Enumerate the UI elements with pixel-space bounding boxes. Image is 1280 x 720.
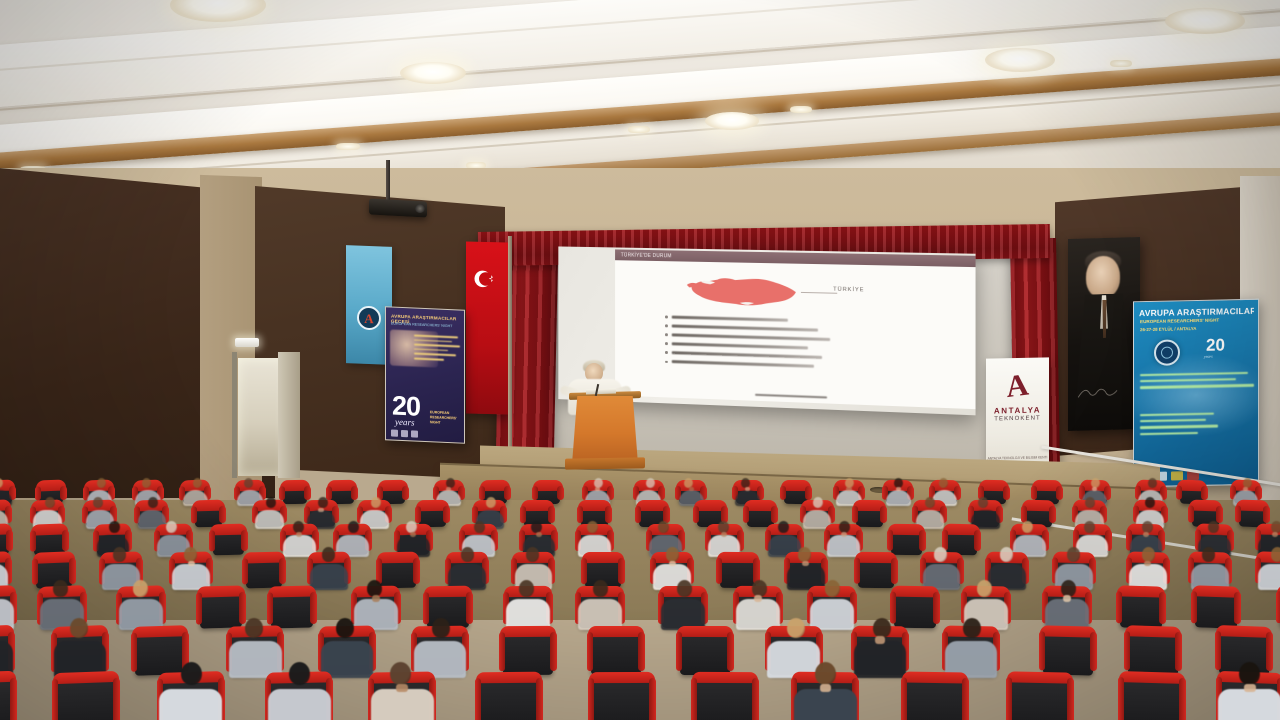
turkish-flag (466, 241, 508, 414)
audience-member-head (519, 580, 534, 597)
auditorium-seat[interactable] (380, 556, 416, 589)
bullet-text-line (671, 316, 787, 322)
audience-member-head (1061, 580, 1076, 597)
poster-text-line (1140, 413, 1214, 417)
audience-member-head (1202, 547, 1215, 562)
seat-armrest (962, 678, 969, 720)
downlight-icon (790, 106, 812, 113)
audience-member-torso (794, 689, 857, 720)
poster-date: 26-27-28 EYLÜL / ANTALYA (1140, 325, 1254, 332)
audience-member-head (113, 547, 126, 562)
turkey-map-icon (682, 269, 802, 314)
audience-member-head (184, 547, 197, 562)
audience-member-head (70, 618, 88, 638)
seat-armrest (933, 592, 940, 624)
audience-member-head (1067, 547, 1080, 562)
auditorium-seat[interactable] (56, 675, 116, 720)
audience-member-neck (536, 532, 542, 537)
bullet-marker-icon (665, 360, 667, 363)
seat-armrest (1234, 592, 1241, 624)
audience-member-head (934, 547, 947, 562)
audience-member-head (1239, 662, 1260, 686)
audience-member-head (658, 521, 669, 533)
auditorium-seat[interactable] (135, 629, 185, 676)
poster-text-line (414, 344, 460, 348)
seat-armrest (1216, 506, 1223, 523)
audience-member-neck (1063, 595, 1071, 601)
seat-armrest (974, 530, 981, 551)
seat-armrest (1159, 592, 1166, 624)
audience-member-torso (310, 564, 348, 590)
bullet-text-line (671, 325, 817, 332)
auditorium-seat[interactable] (1128, 629, 1178, 675)
audience-member-head (336, 618, 354, 638)
audience-member-head (1084, 521, 1095, 533)
downlight-icon (336, 143, 360, 150)
slide-footer-line (755, 393, 827, 398)
podium (572, 396, 638, 464)
poster-years-label: years (1204, 354, 1213, 359)
teknokent-name: ANTALYA (986, 405, 1049, 415)
audience-member-neck (318, 508, 324, 512)
audience-member-head (289, 662, 310, 686)
a-monogram-icon: A (357, 306, 381, 331)
seat-armrest (727, 632, 734, 671)
auditorium-seat[interactable] (894, 590, 936, 629)
audience-member-neck (372, 595, 380, 601)
auditorium-seat[interactable] (271, 590, 313, 629)
audience-member-head (432, 618, 450, 638)
poster-text-lines-secondary (1140, 413, 1218, 439)
audience-member-torso (159, 689, 222, 720)
seat-armrest (239, 592, 246, 624)
audience-member-head (925, 497, 935, 508)
audience-member-torso (255, 510, 283, 529)
map-label: TÜRKİYE (833, 287, 864, 294)
bullet-text-line (671, 361, 813, 368)
poster-text-line (414, 348, 448, 351)
seat-armrest (771, 506, 778, 523)
audience-member-head (1142, 547, 1155, 562)
seat-armrest (1266, 632, 1273, 671)
seat-armrest (241, 530, 248, 551)
seat-armrest (279, 558, 286, 584)
poster-years-number: 20 (392, 396, 420, 419)
seat-armrest (1003, 486, 1010, 500)
presentation-slide: TÜRKİYE'DE DURUM TÜRKİYE (615, 249, 975, 409)
auditorium-seat[interactable] (503, 630, 553, 675)
audience-member-head (873, 618, 891, 638)
audience-member-torso (886, 490, 911, 506)
audience-seating (0, 470, 1280, 720)
audience-member-head (461, 547, 474, 562)
audience-member-head (166, 521, 177, 533)
seat-armrest (219, 506, 226, 523)
seat-armrest (69, 558, 76, 584)
audience-member-head (97, 478, 106, 488)
audience-member-head (148, 497, 158, 508)
audience-member-head (293, 521, 304, 533)
seat-armrest (351, 486, 358, 500)
auditorium-seat[interactable] (1010, 675, 1070, 720)
auditorium-seat[interactable] (856, 504, 883, 527)
audience-member-neck (396, 684, 408, 693)
audience-member-neck (296, 532, 302, 537)
seat-armrest (805, 486, 812, 500)
seat-armrest (1049, 506, 1056, 523)
ataturk-portrait-banner (1068, 237, 1140, 431)
audience-member-head (778, 521, 789, 533)
audience-member-neck (1243, 487, 1248, 491)
auditorium-seat[interactable] (680, 630, 730, 675)
slide-bullet-list (665, 315, 959, 379)
audience-member-neck (875, 636, 885, 644)
audience-member-head (718, 521, 729, 533)
slide-bullet (665, 315, 959, 326)
audience-member-head (815, 662, 836, 686)
audience-member-head (646, 478, 655, 488)
auditorium-seat[interactable] (591, 630, 641, 675)
podium-papers (586, 388, 616, 394)
audience-member-neck (1272, 532, 1278, 537)
bullet-marker-icon (665, 315, 667, 318)
audience-member-head (939, 478, 948, 488)
audience-member-head (677, 580, 692, 597)
poster-years-number: 20 (1206, 336, 1225, 353)
audience-member-neck (754, 595, 762, 601)
a-monogram-letter: A (364, 311, 373, 324)
bullet-text-line (671, 343, 807, 350)
seat-armrest (413, 558, 420, 584)
audience-member-head (825, 580, 840, 597)
seat-armrest (618, 558, 625, 584)
seat-armrest (1179, 678, 1186, 720)
audience-member-head (109, 521, 120, 533)
audience-member-head (1022, 521, 1033, 533)
audience-member-neck (1244, 684, 1256, 693)
slide-body: TÜRKİYE (615, 260, 975, 409)
audience-member-head (53, 580, 68, 597)
audience-member-head (1000, 547, 1013, 562)
audience-member-neck (846, 487, 851, 491)
seat-armrest (548, 506, 555, 523)
seat-armrest (62, 530, 69, 551)
audience-member-head (593, 580, 608, 597)
poster-text-line (1140, 384, 1254, 389)
audience-member-head (1208, 521, 1219, 533)
seat-armrest (310, 592, 317, 624)
seat-armrest (466, 592, 473, 624)
bullet-marker-icon (665, 342, 667, 345)
poster-text-line (1140, 425, 1218, 429)
downlight-icon (705, 112, 759, 130)
audience-member-head (406, 521, 417, 533)
audience-member-head (977, 580, 992, 597)
seat-armrest (752, 678, 759, 720)
seat-armrest (557, 486, 564, 500)
audience-member-neck (410, 532, 416, 537)
audience-member-head (1271, 547, 1280, 562)
seat-armrest (304, 486, 311, 500)
seat-armrest (113, 678, 120, 720)
slide-bullet (665, 324, 959, 335)
poster-text-lines (414, 335, 459, 365)
bullet-text-line (671, 352, 821, 359)
audience-member-neck (669, 561, 676, 566)
poster-text-line (414, 339, 452, 342)
bullet-text-line (671, 334, 829, 341)
poster-text-line (414, 353, 456, 356)
audience-member-neck (841, 532, 847, 537)
audience-member-head (531, 521, 542, 533)
auditorium-seat[interactable] (1122, 675, 1182, 720)
slide-title: TÜRKİYE'DE DURUM (621, 252, 672, 259)
audience-member-neck (721, 532, 727, 537)
downlight-icon (1110, 60, 1132, 67)
podium-base (565, 457, 645, 469)
auditorium-seat[interactable] (747, 504, 774, 527)
audience-member-head (752, 580, 767, 597)
downlight-icon (1165, 8, 1245, 34)
auditorium-seat[interactable] (905, 676, 965, 720)
seat-armrest (1067, 678, 1074, 720)
audience-member-neck (188, 561, 195, 566)
bullet-marker-icon (665, 324, 667, 327)
poster-text-line (1140, 378, 1236, 382)
seat-armrest (60, 486, 67, 500)
auditorium-seat[interactable] (479, 676, 539, 720)
audience-member-head (839, 521, 850, 533)
auditorium-seat[interactable] (891, 528, 922, 555)
audience-member-head (963, 618, 981, 638)
poster-researchers-night-purple: AVRUPA ARAŞTIRMACILAR GECESİ EUROPEAN RE… (385, 306, 465, 443)
portrait-head (1086, 256, 1120, 299)
audience-member-head (322, 547, 335, 562)
poster-text-line (1140, 432, 1198, 435)
auditorium-seat[interactable] (246, 556, 282, 589)
seat-armrest (880, 506, 887, 523)
projector-mount-pole (386, 160, 390, 204)
auditorium-seat[interactable] (695, 676, 755, 720)
audience-member-neck (820, 684, 832, 693)
bullet-marker-icon (665, 333, 667, 336)
auditorium-seat[interactable] (858, 556, 894, 588)
poster-side-text: EUROPEAN RESEARCHERS' NIGHT (430, 410, 460, 427)
seat-armrest (1201, 486, 1208, 500)
a-monogram-icon: A (1004, 369, 1026, 402)
poster-sponsor-logos (391, 429, 459, 440)
downlight-icon (985, 48, 1055, 72)
seat-armrest (605, 506, 612, 523)
door-frame (232, 352, 237, 478)
seat-armrest (1263, 506, 1270, 523)
audience-member-head (1271, 521, 1280, 533)
seat-armrest (550, 632, 557, 671)
poster-text-line (414, 335, 458, 339)
seat-armrest (1090, 632, 1097, 671)
audience-member-head (245, 618, 263, 638)
audience-member-torso (268, 689, 331, 720)
seat-armrest (891, 558, 898, 584)
seat-armrest (10, 678, 17, 720)
audience-member-head (1148, 478, 1157, 488)
audience-member-head (181, 662, 202, 686)
poster-text-line (1140, 419, 1206, 423)
seat-armrest (649, 678, 656, 720)
audience-member-head (798, 547, 811, 562)
seat-armrest (1175, 632, 1182, 671)
audience-member-head (787, 618, 805, 638)
sponsor-logo (401, 429, 408, 436)
audience-member-head (45, 497, 55, 508)
downlight-icon (628, 126, 650, 133)
teknokent-subtitle: TEKNOKENT (986, 415, 1049, 422)
flag-pole (508, 236, 512, 474)
audience-member-torso (1258, 564, 1280, 590)
audience-member-torso (1218, 689, 1280, 720)
bullet-marker-icon (665, 351, 667, 354)
auditorium-seat[interactable] (1120, 589, 1162, 628)
audience-member-head (348, 521, 359, 533)
audience-member-head (1145, 497, 1155, 508)
poster-researchers-night-cyan: AVRUPA ARAŞTIRMACILAR GECESİ EUROPEAN RE… (1133, 299, 1259, 488)
audience-member-neck (1144, 561, 1151, 566)
audience-member-torso (371, 689, 434, 720)
signature-icon (1076, 386, 1120, 401)
sponsor-logo (391, 429, 398, 436)
door-leaf[interactable] (278, 352, 300, 478)
audience-member-head (526, 547, 539, 562)
downlight-icon (400, 62, 466, 84)
audience-member-head (666, 547, 679, 562)
poster-text-line (414, 357, 444, 360)
seat-armrest (919, 530, 926, 551)
audience-member-neck (896, 487, 901, 491)
audience-member-neck (689, 487, 694, 491)
seat-armrest (402, 486, 409, 500)
auditorium-seat[interactable] (592, 676, 652, 720)
poster-subtitle: EUROPEAN RESEARCHERS' NIGHT (1140, 317, 1254, 324)
audience-member-torso (854, 641, 907, 678)
poster-years-label: years (395, 417, 415, 428)
exit-sign (235, 338, 259, 347)
seat-armrest (6, 530, 13, 551)
audience-member-head (474, 521, 485, 533)
audience-member-head (244, 478, 253, 488)
projector-lens-icon (415, 204, 425, 213)
poster-text-lines (1140, 372, 1252, 393)
sponsor-logo (411, 430, 418, 437)
auditorium-seat[interactable] (1195, 589, 1237, 628)
audience-member-head (133, 580, 148, 597)
auditorium-seat[interactable] (213, 528, 244, 556)
auditorium-seat[interactable] (1043, 629, 1093, 675)
auditorium-seat[interactable] (720, 556, 756, 588)
audience-member-head (193, 478, 202, 488)
audience-member-neck (595, 487, 600, 491)
audience-member-head (1142, 521, 1153, 533)
map-leader-line (801, 292, 837, 294)
seat-armrest (536, 678, 543, 720)
audience-member-head (390, 662, 411, 686)
slide-bullet (665, 360, 959, 372)
auditorium-photo: TÜRKİYE'DE DURUM TÜRKİYE (0, 0, 1280, 720)
seat-armrest (504, 486, 511, 500)
seat-armrest (1056, 486, 1063, 500)
auditorium-seat[interactable] (200, 589, 242, 628)
audience-member-head (367, 580, 382, 597)
audience-member-neck (1092, 487, 1097, 491)
audience-member-torso (827, 535, 860, 557)
audience-member-head (587, 521, 598, 533)
seat-armrest (443, 506, 450, 523)
audience-member-neck (1143, 532, 1149, 537)
seat-armrest (638, 632, 645, 671)
